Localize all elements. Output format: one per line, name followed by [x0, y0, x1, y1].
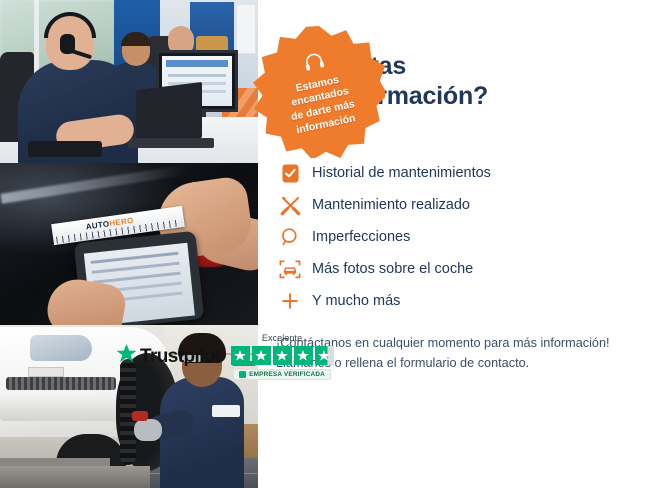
- feature-label: Imperfecciones: [312, 229, 410, 245]
- feature-item-imperfecciones: Imperfecciones: [276, 221, 576, 253]
- feature-item-mantenimiento: Mantenimiento realizado: [276, 189, 576, 221]
- trustpilot-stars: [231, 346, 334, 365]
- trustpilot-rating-label: Excelente: [262, 333, 302, 343]
- mechanic-tool: [132, 411, 148, 421]
- trustpilot-star-1: [231, 346, 250, 365]
- feature-item-historial: Historial de mantenimientos: [276, 157, 576, 189]
- trustpilot-star-3: [273, 346, 292, 365]
- car-grille: [6, 377, 116, 390]
- trustpilot-wordmark: Trustpilot: [140, 346, 221, 368]
- trustpilot-star-2: [252, 346, 271, 365]
- trustpilot-widget[interactable]: Trustpilot Excelente: [115, 333, 355, 380]
- feature-item-fotos: Más fotos sobre el coche: [276, 253, 576, 285]
- feature-item-mas: Y mucho más: [276, 285, 576, 317]
- trustpilot-star-5-partial: [315, 346, 334, 365]
- trustpilot-logo: Trustpilot: [115, 343, 221, 370]
- car-inspection-ruler-photo: AUTOHERO: [0, 163, 258, 325]
- desk-tablet: [28, 141, 102, 157]
- photo-column: AUTOHERO: [0, 0, 258, 488]
- feature-list: Historial de mantenimientos Mantenimient…: [276, 157, 576, 317]
- feature-label: Mantenimiento realizado: [312, 197, 470, 213]
- feature-label: Historial de mantenimientos: [312, 165, 491, 181]
- car-headlight: [30, 335, 92, 361]
- mechanic-uniform-logo: [212, 405, 240, 417]
- verified-label: EMPRESA VERIFICADA: [249, 371, 325, 378]
- verified-check-icon: [239, 371, 246, 378]
- car-lift-platform: [0, 466, 150, 488]
- trustpilot-star-icon: [115, 343, 138, 370]
- car-scan-icon: [276, 255, 304, 283]
- car-plate: [28, 367, 64, 377]
- magnifier-icon: [276, 223, 304, 251]
- mechanic-glove: [134, 419, 162, 441]
- trustpilot-rating: Excelente EMPRESA: [231, 333, 334, 380]
- headset-icon: [301, 50, 327, 78]
- support-badge: Estamos encantados de darte más informac…: [253, 26, 385, 158]
- badge-text: Estamos encantados de darte más informac…: [284, 71, 359, 138]
- tools-cross-icon: [276, 191, 304, 219]
- laptop-screen: [136, 82, 202, 146]
- car-lift-arm: [0, 458, 110, 466]
- badge-content: Estamos encantados de darte más informac…: [241, 14, 398, 171]
- feature-label: Y mucho más: [312, 293, 400, 309]
- trustpilot-star-4: [294, 346, 313, 365]
- verified-business-badge: EMPRESA VERIFICADA: [233, 369, 331, 380]
- laptop-base: [128, 138, 214, 148]
- information-promo-card: AUTOHERO: [0, 0, 650, 488]
- call-center-agents-photo: [0, 0, 258, 163]
- feature-label: Más fotos sobre el coche: [312, 261, 473, 277]
- plus-icon: [276, 287, 304, 315]
